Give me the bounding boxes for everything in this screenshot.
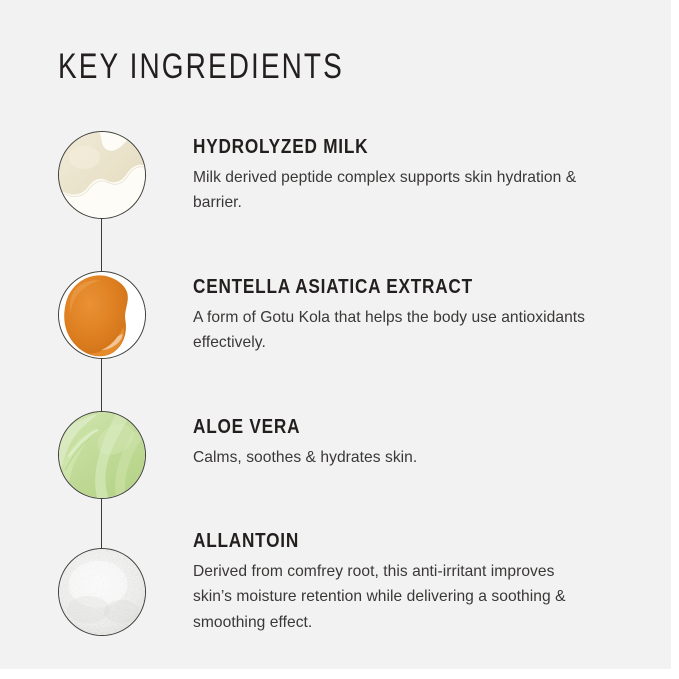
allantoin-swatch (58, 548, 146, 636)
ingredient-text-block: CENTELLA ASIATICA EXTRACT A form of Gotu… (193, 276, 613, 356)
ingredient-text-block: ALLANTOIN Derived from comfrey root, thi… (193, 530, 613, 635)
ingredient-name: ALOE VERA (193, 416, 554, 439)
ingredient-text-block: ALOE VERA Calms, soothes & hydrates skin… (193, 416, 613, 470)
key-ingredients-infographic: KEY INGREDIENTS (0, 0, 679, 679)
ingredient-description: A form of Gotu Kola that helps the body … (193, 305, 593, 356)
aloe-vera-swatch (58, 411, 146, 499)
ingredient-name: HYDROLYZED MILK (193, 136, 554, 159)
ingredient-description: Derived from comfrey root, this anti-irr… (193, 559, 593, 635)
centella-asiatica-swatch (58, 271, 146, 359)
ingredient-name: ALLANTOIN (193, 530, 554, 553)
ingredient-name: CENTELLA ASIATICA EXTRACT (193, 276, 554, 299)
page-title: KEY INGREDIENTS (58, 48, 344, 87)
ingredient-description: Calms, soothes & hydrates skin. (193, 445, 593, 470)
ingredient-text-block: HYDROLYZED MILK Milk derived peptide com… (193, 136, 613, 216)
timeline-connector-line (101, 175, 102, 593)
hydrolyzed-milk-swatch (58, 131, 146, 219)
infographic-canvas: KEY INGREDIENTS (0, 0, 671, 669)
ingredient-description: Milk derived peptide complex supports sk… (193, 165, 593, 216)
